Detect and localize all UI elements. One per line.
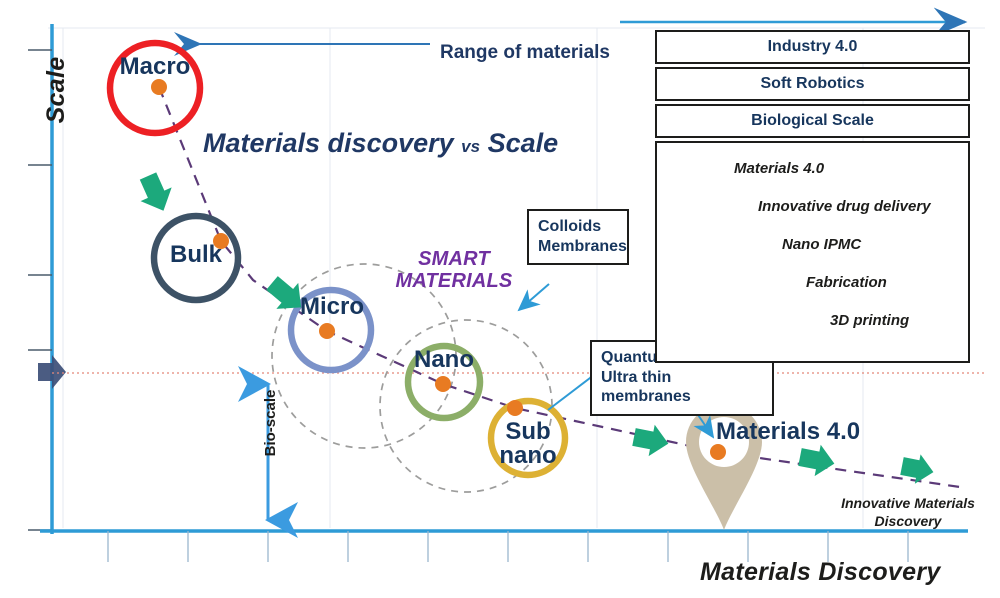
bio-scale-label: Bio-scale <box>255 368 285 478</box>
callout-quantum-line-2: Ultra thin membranes <box>601 368 763 407</box>
node-label-bulk: Bulk <box>150 243 242 267</box>
green-arrow-4 <box>797 441 837 479</box>
node-label-subnano: Sub nano <box>482 420 574 469</box>
y-axis-title: Scale <box>0 30 116 150</box>
smart-materials-label: SMART MATERIALS <box>392 248 516 293</box>
callout-colloids-line-2: Membranes <box>538 237 618 257</box>
node-label-materials-40: Materials 4.0 <box>716 420 916 444</box>
green-arrow-5 <box>899 451 936 487</box>
node-label-macro: Macro <box>108 55 202 79</box>
dot-nano <box>435 376 451 392</box>
y-axis-marker <box>38 355 66 389</box>
green-arrow-3 <box>631 421 671 459</box>
title-vs: vs <box>461 137 480 156</box>
page-title: Materials discovery vs Scale <box>203 128 558 159</box>
title-tail: Scale <box>488 128 559 158</box>
x-axis-title: Materials Discovery <box>700 558 941 587</box>
node-label-micro: Micro <box>286 295 378 319</box>
legend-items-panel: Materials 4.0 Innovative drug delivery N… <box>655 141 970 363</box>
legend-item-fabrication: Fabrication <box>806 274 887 291</box>
legend-band-industry-40: Industry 4.0 <box>655 30 970 64</box>
node-label-nano: Nano <box>400 348 488 372</box>
green-arrow-1 <box>132 169 179 218</box>
callout-colloids-line-1: Colloids <box>538 217 618 237</box>
range-of-materials-label: Range of materials <box>440 42 610 64</box>
legend-band-soft-robotics: Soft Robotics <box>655 67 970 101</box>
dot-subnano <box>507 400 523 416</box>
callout-colloids: Colloids Membranes <box>527 209 629 265</box>
legend-item-3d-printing: 3D printing <box>830 312 909 329</box>
callout-quantum-leader <box>548 378 590 410</box>
callout-colloids-leader <box>519 284 549 310</box>
legend-item-materials-40: Materials 4.0 <box>734 160 824 177</box>
title-main: Materials discovery <box>203 128 454 158</box>
dot-micro <box>319 323 335 339</box>
legend-band-biological-scale: Biological Scale <box>655 104 970 138</box>
legend-panel: Industry 4.0 Soft Robotics Biological Sc… <box>655 30 970 330</box>
dot-materials40 <box>710 444 726 460</box>
materials-discovery-diagram: Scale Materials Discovery Materials disc… <box>0 0 1000 598</box>
innovative-materials-discovery-label: Innovative Materials Discovery <box>832 495 984 530</box>
legend-item-nano-ipmc: Nano IPMC <box>782 236 861 253</box>
dot-macro <box>151 79 167 95</box>
legend-item-innovative-drug-delivery: Innovative drug delivery <box>758 198 931 215</box>
